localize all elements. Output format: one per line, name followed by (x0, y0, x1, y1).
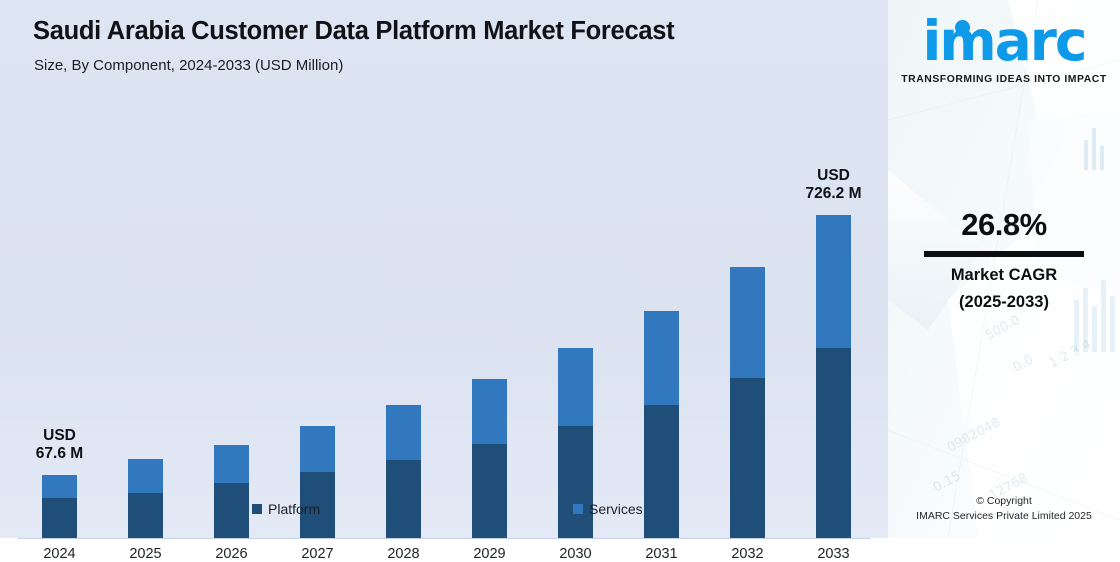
bar-segment-services-2030[interactable] (558, 348, 593, 426)
cagr-block: 26.8% Market CAGR (2025-2033) (888, 207, 1120, 312)
bar-2027[interactable] (300, 426, 335, 538)
legend-item-services[interactable]: Services (573, 501, 643, 517)
bar-segment-platform-2028[interactable] (386, 460, 421, 538)
legend-swatch-services (573, 504, 583, 514)
x-axis-label-2028: 2028 (359, 546, 449, 562)
bar-segment-services-2027[interactable] (300, 426, 335, 472)
plot-area: USD67.6 MUSD726.2 M 20242025202620272028… (0, 80, 888, 459)
x-axis-label-2025: 2025 (101, 546, 191, 562)
callout-last: USD726.2 M (779, 167, 889, 204)
x-axis-label-2033: 2033 (789, 546, 879, 562)
cagr-period: (2025-2033) (888, 293, 1120, 312)
legend-swatch-platform (252, 504, 262, 514)
callout-first-value: 67.6 M (5, 445, 115, 463)
bar-segment-services-2033[interactable] (816, 215, 851, 348)
x-axis-label-2026: 2026 (187, 546, 277, 562)
infographic-root: Saudi Arabia Customer Data Platform Mark… (0, 0, 1120, 538)
cagr-label: Market CAGR (888, 266, 1120, 285)
chart-subtitle: Size, By Component, 2024-2033 (USD Milli… (34, 57, 343, 74)
logo-tagline: TRANSFORMING IDEAS INTO IMPACT (888, 74, 1120, 85)
x-axis-label-2032: 2032 (703, 546, 793, 562)
bar-segment-platform-2030[interactable] (558, 426, 593, 538)
callout-last-value: 726.2 M (779, 185, 889, 203)
bar-2032[interactable] (730, 267, 765, 538)
bar-segment-services-2029[interactable] (472, 379, 507, 444)
logo-wordmark: imarc (922, 9, 1085, 73)
chart-panel: Saudi Arabia Customer Data Platform Mark… (0, 0, 888, 538)
x-axis-label-2030: 2030 (531, 546, 621, 562)
bar-segment-services-2024[interactable] (42, 475, 77, 498)
copyright-notice: © Copyright IMARC Services Private Limit… (888, 494, 1120, 524)
legend-label-platform: Platform (268, 501, 320, 517)
copyright-line-2: IMARC Services Private Limited 2025 (888, 509, 1120, 524)
bar-segment-services-2026[interactable] (214, 445, 249, 483)
callout-first: USD67.6 M (5, 427, 115, 464)
bar-segment-services-2028[interactable] (386, 405, 421, 460)
x-axis-label-2027: 2027 (273, 546, 363, 562)
imarc-logo: imarc TRANSFORMING IDEAS INTO IMPACT (888, 14, 1120, 85)
callout-last-currency: USD (779, 167, 889, 185)
bar-segment-services-2025[interactable] (128, 459, 163, 493)
bar-2026[interactable] (214, 445, 249, 538)
x-axis-label-2031: 2031 (617, 546, 707, 562)
cagr-value: 26.8% (888, 207, 1120, 243)
bar-segment-platform-2029[interactable] (472, 444, 507, 538)
page-title: Saudi Arabia Customer Data Platform Mark… (33, 17, 674, 46)
bar-2033[interactable] (816, 215, 851, 538)
copyright-line-1: © Copyright (888, 494, 1120, 509)
x-axis-label-2029: 2029 (445, 546, 535, 562)
bar-segment-services-2031[interactable] (644, 311, 679, 405)
brand-panel: 500.0 0.0 1 2 3 4 0982048 0.15 12768 ima… (888, 0, 1120, 538)
axis-baseline (18, 538, 870, 539)
cagr-divider (924, 251, 1084, 257)
callout-first-currency: USD (5, 427, 115, 445)
x-axis-label-2024: 2024 (15, 546, 105, 562)
bar-segment-services-2032[interactable] (730, 267, 765, 378)
chart-legend: PlatformServices (0, 501, 888, 521)
legend-label-services: Services (589, 501, 643, 517)
legend-item-platform[interactable]: Platform (252, 501, 320, 517)
bar-2025[interactable] (128, 459, 163, 538)
